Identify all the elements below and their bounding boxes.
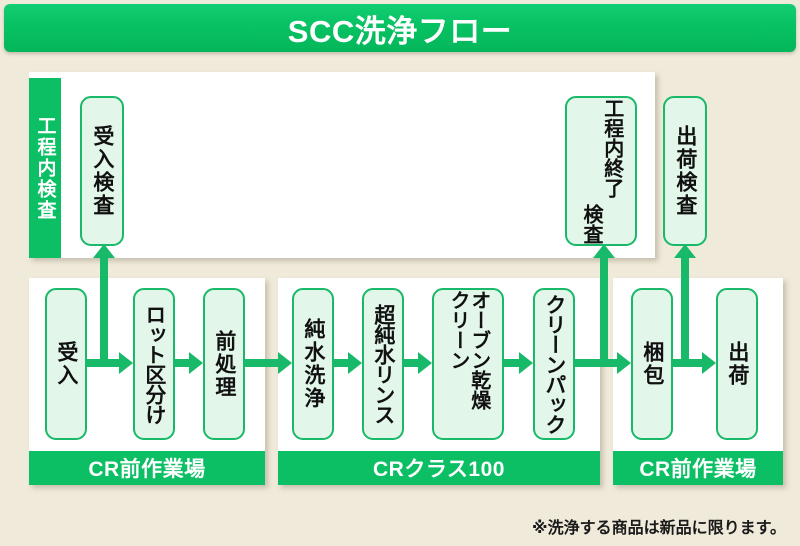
title-banner: SCC洗浄フロー (4, 4, 796, 52)
step-box-pure-water-wash[interactable]: 純水洗浄 (292, 288, 334, 440)
inspection-box-receiving[interactable]: 受入検査 (80, 96, 124, 246)
step-box-lot-sorting-label: ロット区分け (143, 304, 165, 424)
step-box-pretreatment[interactable]: 前処理 (203, 288, 245, 440)
step-box-clean-oven-dry-label-right: オーブン乾燥 (468, 290, 489, 410)
arrow-up-to-process-complete-inspection (593, 244, 615, 360)
step-box-ultrapure-rinse-label: 超純水リンス (372, 304, 394, 424)
step-box-clean-oven-dry[interactable]: クリーン オーブン乾燥 (432, 288, 504, 440)
arrow-up-to-shipping-inspection (674, 244, 696, 360)
inspection-box-process-complete-label-right: 工程内終了 (601, 98, 622, 198)
flow-diagram: SCC洗浄フロー 工程内検査 受入検査 検査 工程内終了 出荷検査 CR前作業場… (0, 0, 800, 546)
arrow-pretreatment-to-pure-water-wash (245, 352, 292, 374)
inspection-box-process-complete[interactable]: 検査 工程内終了 (565, 96, 637, 246)
step-box-clean-oven-dry-label-left: クリーン (447, 290, 468, 370)
inspection-box-shipping-label: 出荷検査 (674, 125, 696, 217)
inspection-box-process-complete-label-left: 検査 (580, 204, 601, 244)
step-box-clean-pack[interactable]: クリーンパック (533, 288, 575, 440)
step-box-shipping-label: 出荷 (726, 341, 748, 387)
group-label-pre-cr-1: CR前作業場 (29, 451, 265, 485)
step-box-clean-pack-label: クリーンパック (543, 294, 565, 434)
inspection-box-shipping[interactable]: 出荷検査 (663, 96, 707, 246)
step-box-receiving-label: 受入 (55, 341, 77, 387)
arrow-clean-oven-dry-to-clean-pack (504, 352, 533, 374)
step-box-ultrapure-rinse[interactable]: 超純水リンス (362, 288, 404, 440)
group-label-cr-class100: CRクラス100 (278, 451, 600, 485)
step-box-packaging[interactable]: 梱包 (631, 288, 673, 440)
group-label-cr-class100-text: CRクラス100 (373, 453, 505, 483)
inspection-section-label: 工程内検査 (29, 78, 61, 258)
step-box-lot-sorting[interactable]: ロット区分け (133, 288, 175, 440)
step-box-pretreatment-label: 前処理 (213, 330, 235, 399)
arrow-lot-sorting-to-pretreatment (175, 352, 203, 374)
step-box-packaging-label: 梱包 (641, 341, 663, 387)
step-box-receiving[interactable]: 受入 (45, 288, 87, 440)
inspection-section-label-text: 工程内検査 (32, 116, 59, 221)
arrow-up-to-receiving-inspection (93, 244, 115, 360)
step-box-pure-water-wash-label: 純水洗浄 (302, 318, 324, 410)
group-label-pre-cr-1-text: CR前作業場 (88, 453, 205, 483)
arrow-pure-water-wash-to-ultrapure-rinse (334, 352, 362, 374)
step-box-shipping[interactable]: 出荷 (716, 288, 758, 440)
inspection-box-receiving-label: 受入検査 (91, 125, 113, 217)
group-label-pre-cr-2-text: CR前作業場 (639, 453, 756, 483)
page-title: SCC洗浄フロー (4, 4, 796, 52)
footnote: ※洗浄する商品は新品に限ります。 (532, 514, 786, 538)
arrow-ultrapure-rinse-to-clean-oven-dry (404, 352, 432, 374)
group-label-pre-cr-2: CR前作業場 (613, 451, 783, 485)
